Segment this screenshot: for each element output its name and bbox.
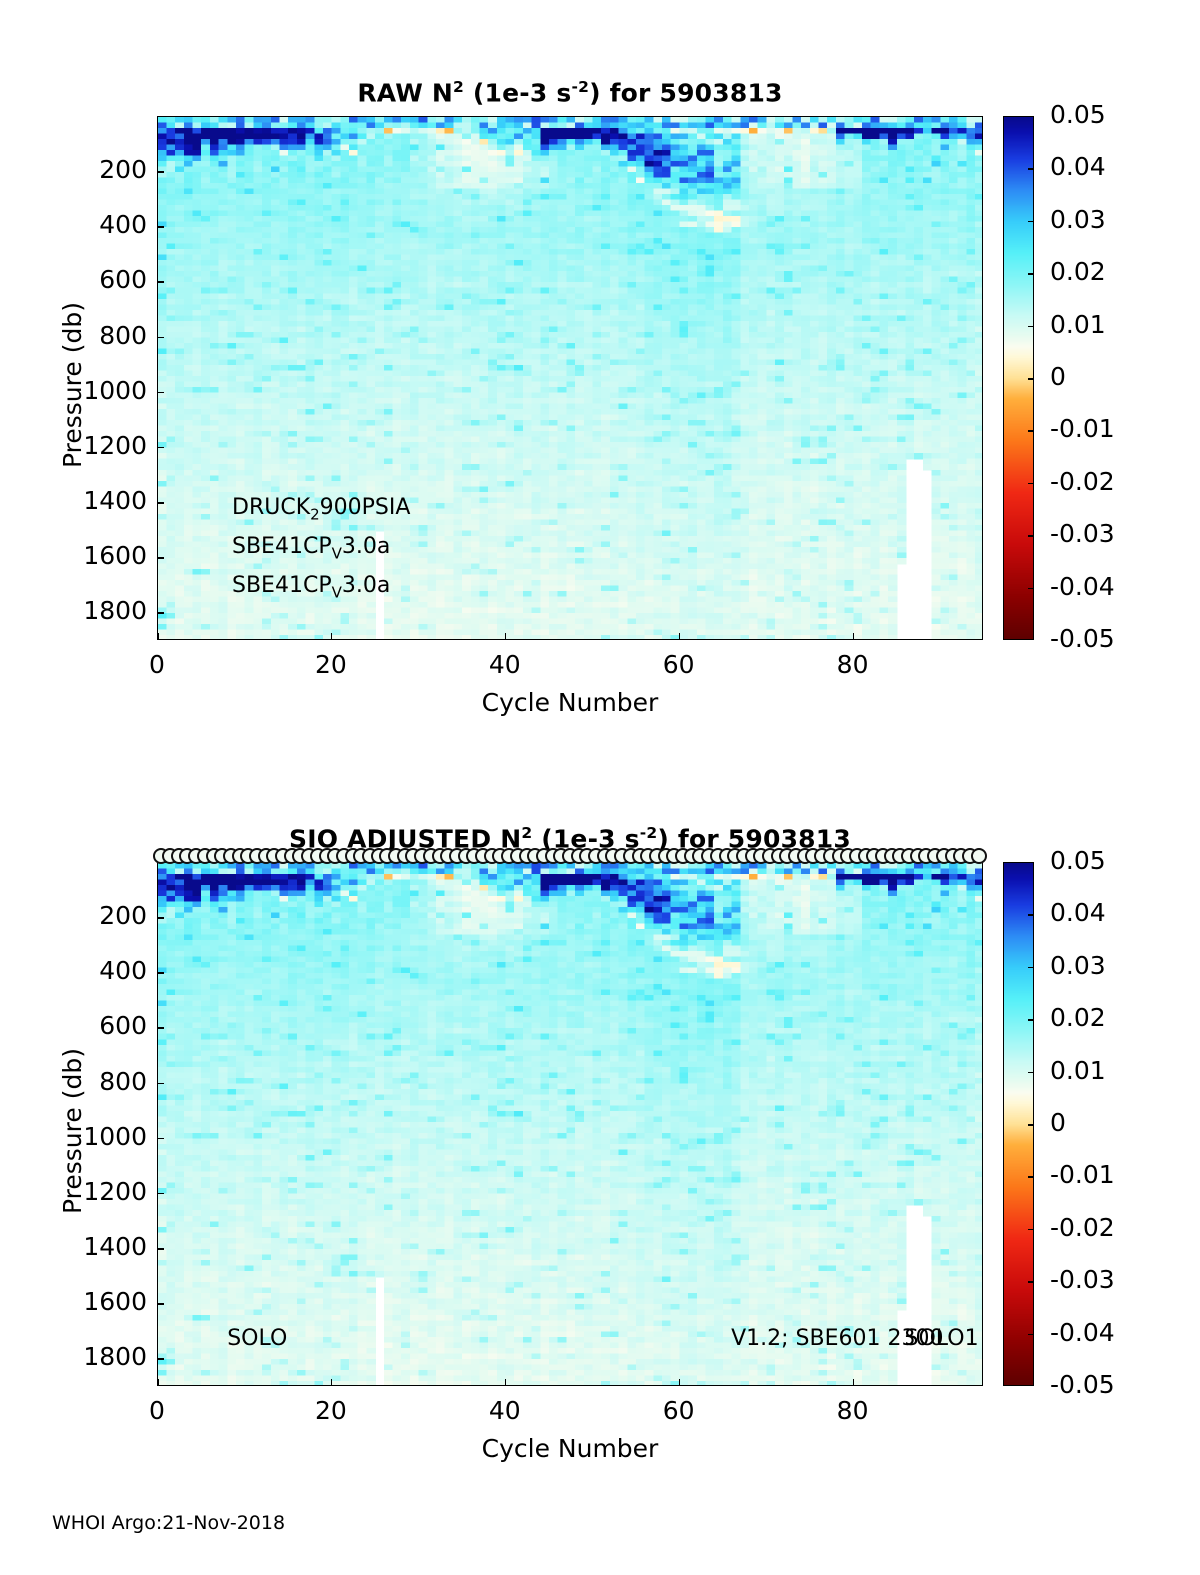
panel-raw-xlabel: Cycle Number [157,688,983,717]
colorbar-tick-mark [1028,967,1034,969]
colorbar-tick-mark [1028,535,1034,537]
colorbar-tick-mark [1028,168,1034,170]
xtick-label: 60 [629,1396,729,1425]
colorbar-tick-label: 0.01 [1050,1056,1106,1085]
panel-adjusted-plot-area[interactable] [157,862,983,1386]
colorbar-tick-mark [1028,1124,1034,1126]
ytick-mark [157,1248,164,1250]
colorbar-tick-mark [1028,378,1034,380]
cycle-marker [971,848,987,864]
ytick-mark [157,1193,164,1195]
ytick-mark [157,337,164,339]
ytick-label: 1600 [47,1287,147,1316]
panel-raw-annotation: DRUCK2900PSIA [232,495,410,523]
colorbar-tick-mark [1028,1019,1034,1021]
ytick-label: 800 [47,1067,147,1096]
ytick-label: 200 [47,155,147,184]
xtick-label: 0 [107,1396,207,1425]
figure-footer: WHOI Argo:21-Nov-2018 [52,1512,285,1534]
colorbar-tick-label: 0.04 [1050,898,1106,927]
ytick-label: 400 [47,956,147,985]
ytick-label: 1800 [47,596,147,625]
xtick-label: 80 [803,1396,903,1425]
ytick-mark [157,226,164,228]
panel-adjusted-xlabel: Cycle Number [157,1434,983,1463]
ytick-label: 400 [47,210,147,239]
xtick-mark [331,1379,333,1386]
ytick-mark [157,1303,164,1305]
colorbar-tick-mark [1028,326,1034,328]
colorbar-tick-label: 0.04 [1050,152,1106,181]
ytick-label: 1600 [47,541,147,570]
ytick-label: 200 [47,901,147,930]
colorbar-tick-label: -0.01 [1050,414,1115,443]
ytick-mark [157,502,164,504]
ytick-mark [157,447,164,449]
ytick-mark [157,392,164,394]
xtick-mark [331,633,333,640]
panel-adjusted-annotation: SOLO [227,1326,287,1351]
panel-raw-annotation: SBE41CPV3.0a [232,573,390,601]
xtick-mark [679,1379,681,1386]
ytick-mark [157,557,164,559]
colorbar-tick-mark [1028,1334,1034,1336]
colorbar-tick-mark [1028,1281,1034,1283]
colorbar-tick-mark [1028,914,1034,916]
xtick-mark [505,1379,507,1386]
xtick-label: 20 [281,1396,381,1425]
colorbar-tick-mark [1028,588,1034,590]
colorbar-tick-mark [1028,1176,1034,1178]
colorbar-tick-mark [1028,221,1034,223]
colorbar-tick-label: 0 [1050,362,1066,391]
panel-adjusted-annotation: SOLO1 [905,1326,979,1351]
ytick-label: 1000 [47,1122,147,1151]
colorbar-tick-label: -0.03 [1050,519,1115,548]
colorbar-tick-mark [1028,273,1034,275]
colorbar-tick-label: -0.04 [1050,1318,1115,1347]
ytick-label: 1400 [47,486,147,515]
colorbar-adjusted: 0.050.040.030.020.010-0.01-0.02-0.03-0.0… [1003,862,1173,1386]
colorbar-tick-label: -0.03 [1050,1265,1115,1294]
colorbar-tick-label: -0.02 [1050,1213,1115,1242]
colorbar-tick-mark [1028,1229,1034,1231]
colorbar-tick-label: 0.02 [1050,257,1106,286]
xtick-label: 40 [455,1396,555,1425]
ytick-label: 1400 [47,1232,147,1261]
colorbar-tick-label: 0.02 [1050,1003,1106,1032]
ytick-mark [157,281,164,283]
panel-raw-title: RAW N2 (1e-3 s-2) for 5903813 [157,78,983,107]
xtick-mark [157,1379,159,1386]
colorbar-tick-label: 0 [1050,1108,1066,1137]
xtick-label: 20 [281,650,381,679]
colorbar-tick-mark [1028,430,1034,432]
ytick-mark [157,1027,164,1029]
ytick-label: 600 [47,265,147,294]
xtick-mark [157,633,159,640]
ytick-mark [157,1083,164,1085]
ytick-mark [157,972,164,974]
colorbar-tick-mark [1028,1072,1034,1074]
ytick-mark [157,612,164,614]
xtick-mark [679,633,681,640]
colorbar-tick-mark [1028,483,1034,485]
colorbar-raw: 0.050.040.030.020.010-0.01-0.02-0.03-0.0… [1003,116,1173,640]
colorbar-tick-label: -0.04 [1050,572,1115,601]
xtick-mark [853,1379,855,1386]
colorbar-tick-label: 0.05 [1050,846,1106,875]
ytick-label: 800 [47,321,147,350]
ytick-label: 600 [47,1011,147,1040]
ytick-label: 1200 [47,1177,147,1206]
colorbar-tick-label: -0.01 [1050,1160,1115,1189]
panel-raw-annotation: SBE41CPV3.0a [232,534,390,562]
colorbar-tick-label: 0.01 [1050,310,1106,339]
colorbar-tick-label: 0.03 [1050,951,1106,980]
colorbar-tick-label: -0.05 [1050,624,1115,653]
xtick-label: 80 [803,650,903,679]
colorbar-tick-label: 0.05 [1050,100,1106,129]
ytick-mark [157,917,164,919]
xtick-mark [505,633,507,640]
xtick-label: 0 [107,650,207,679]
heatmap-canvas-adjusted [158,863,983,1386]
colorbar-tick-label: 0.03 [1050,205,1106,234]
ytick-label: 1000 [47,376,147,405]
ytick-mark [157,1358,164,1360]
colorbar-tick-label: -0.02 [1050,467,1115,496]
ytick-label: 1200 [47,431,147,460]
ytick-mark [157,1138,164,1140]
ytick-mark [157,171,164,173]
colorbar-tick-label: -0.05 [1050,1370,1115,1399]
xtick-label: 60 [629,650,729,679]
ytick-label: 1800 [47,1342,147,1371]
xtick-mark [853,633,855,640]
xtick-label: 40 [455,650,555,679]
